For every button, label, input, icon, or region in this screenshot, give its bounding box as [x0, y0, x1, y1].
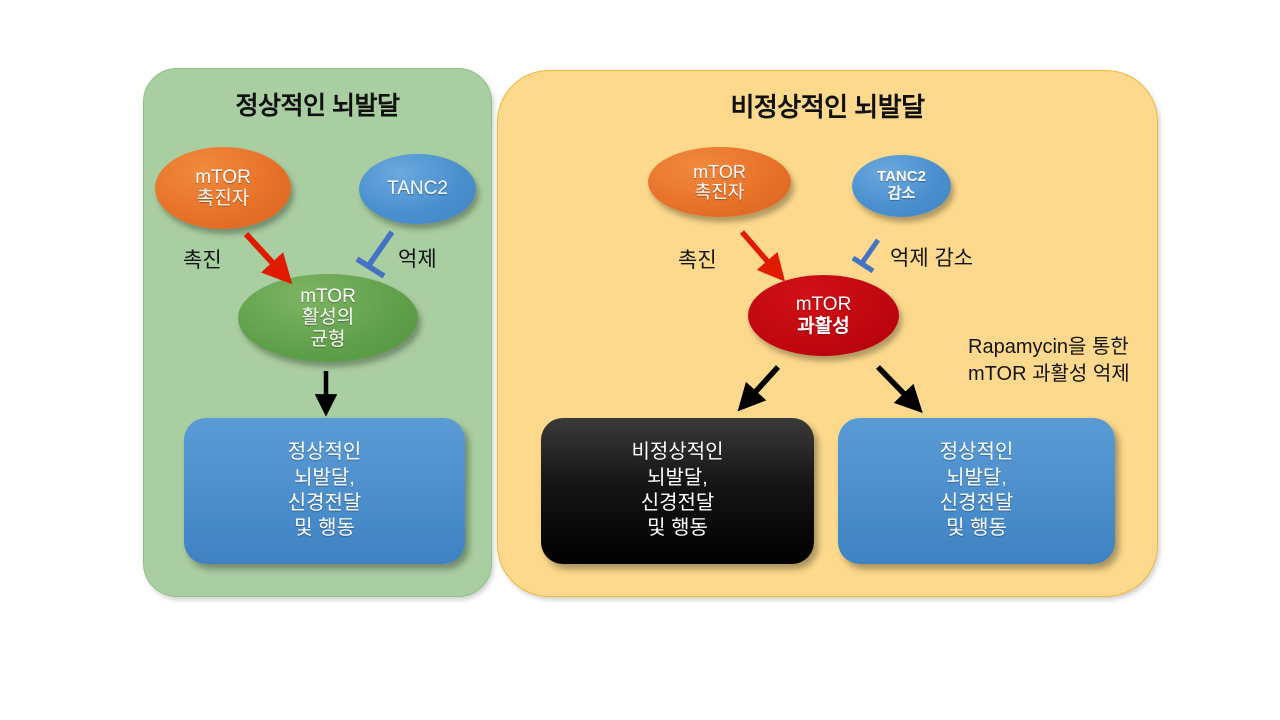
outcome-line: 뇌발달,: [647, 466, 708, 491]
outcome-line: 신경전달: [288, 491, 362, 516]
node-mtor-activity-balance[interactable]: mTOR 활성의 균형: [238, 274, 418, 362]
outcome-line: 및 행동: [946, 516, 1007, 541]
outcome-line: 비정상적인: [632, 440, 724, 465]
node-label-line: mTOR: [195, 167, 251, 188]
node-label-line: TANC2: [387, 178, 448, 199]
outcome-line: 및 행동: [294, 516, 355, 541]
node-label-line: 촉진자: [197, 188, 249, 209]
node-label-line: mTOR: [796, 294, 852, 315]
node-label-line: 감소: [888, 186, 916, 203]
node-mtor-overactive[interactable]: mTOR 과활성: [748, 275, 899, 356]
node-label-line: 과활성: [797, 316, 849, 337]
outcome-line: 뇌발달,: [294, 466, 355, 491]
panel-abnormal-title: 비정상적인 뇌발달: [498, 87, 1157, 124]
edge-label-promote-normal: 촉진: [183, 244, 222, 274]
diagram-canvas: 정상적인 뇌발달 비정상적인 뇌발달 mTOR 촉진자 TANC2 mTOR 활…: [0, 0, 1280, 720]
edge-label-promote-abnormal: 촉진: [678, 244, 717, 274]
node-tanc2-reduced[interactable]: TANC2 감소: [852, 155, 951, 217]
node-outcome-normal-left[interactable]: 정상적인 뇌발달, 신경전달 및 행동: [184, 418, 465, 564]
node-tanc2-normal[interactable]: TANC2: [359, 154, 476, 224]
outcome-line: 신경전달: [940, 491, 1014, 516]
outcome-line: 정상적인: [940, 440, 1014, 465]
node-outcome-abnormal[interactable]: 비정상적인 뇌발달, 신경전달 및 행동: [541, 418, 814, 564]
node-label-line: TANC2: [877, 169, 926, 186]
node-label-line: mTOR: [300, 286, 356, 307]
node-label-line: 균형: [311, 329, 346, 350]
edge-label-rapamycin: Rapamycin을 통한 mTOR 과활성 억제: [968, 334, 1163, 388]
outcome-line: 신경전달: [641, 491, 715, 516]
outcome-line: 및 행동: [647, 516, 708, 541]
node-mtor-promoter-abnormal[interactable]: mTOR 촉진자: [648, 147, 791, 217]
node-label-line: 활성의: [302, 307, 354, 328]
edge-label-inhibit-reduced: 억제 감소: [890, 242, 973, 272]
node-outcome-normal-right[interactable]: 정상적인 뇌발달, 신경전달 및 행동: [838, 418, 1115, 564]
panel-normal-title: 정상적인 뇌발달: [144, 86, 491, 122]
node-label-line: mTOR: [693, 162, 746, 182]
outcome-line: 정상적인: [288, 440, 362, 465]
outcome-line: 뇌발달,: [946, 466, 1007, 491]
edge-label-inhibit-normal: 억제: [398, 243, 437, 273]
node-label-line: 촉진자: [695, 182, 745, 202]
node-mtor-promoter-normal[interactable]: mTOR 촉진자: [155, 147, 291, 229]
